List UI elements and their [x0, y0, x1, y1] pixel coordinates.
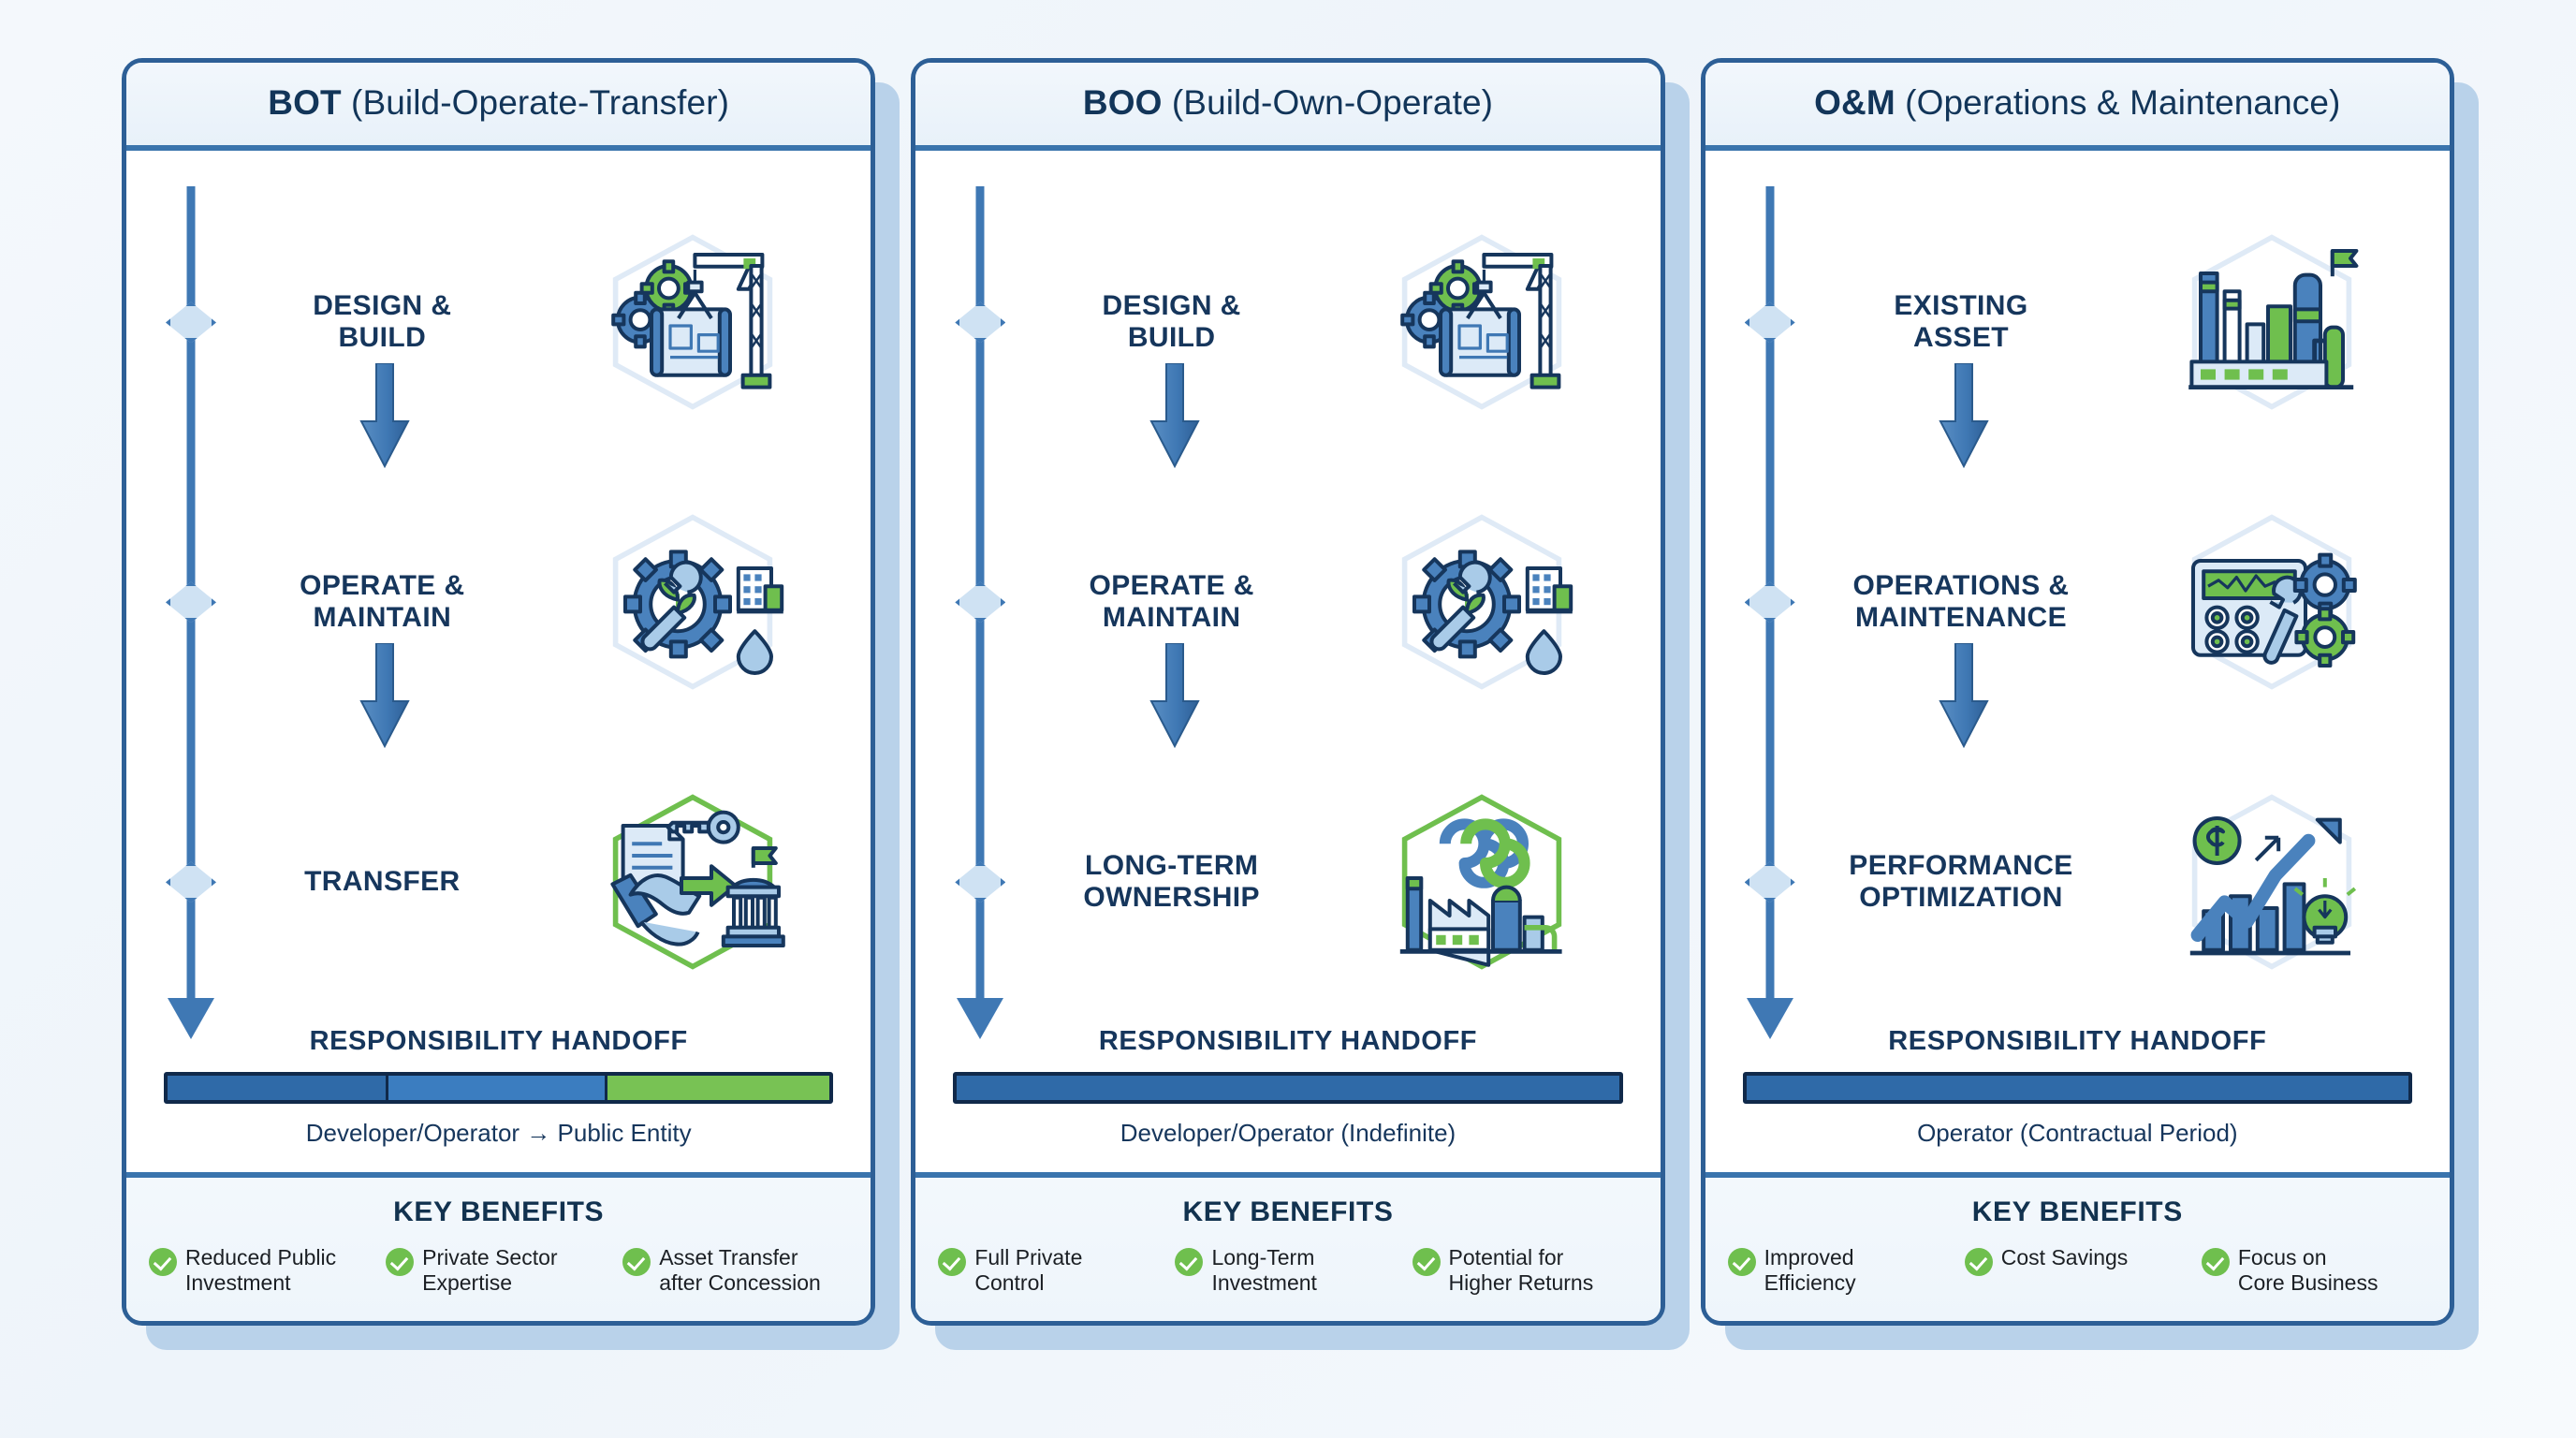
card-body-bot: DESIGN & BUILD [126, 151, 871, 1172]
stage-label: OPERATE & MAINTAIN [1089, 570, 1253, 636]
stage-label: OPERATIONS & MAINTENANCE [1853, 570, 2070, 636]
stage-label: EXISTING ASSET [1894, 290, 2027, 356]
check-circle-icon [1965, 1248, 1993, 1276]
flow-arrow-down-icon [356, 643, 414, 748]
stage-illustration-1 [1328, 183, 1636, 462]
stage-2-boo[interactable]: OPERATE & MAINTAIN [1020, 462, 1328, 742]
responsibility-handoff-om: RESPONSIBILITY HANDOFF Operator (Contrac… [1730, 1022, 2425, 1172]
check-circle-icon [1412, 1248, 1441, 1276]
timeline-node-3 [1730, 742, 1810, 1022]
control-panel-icon [2155, 508, 2389, 696]
flow-arrow-down-icon [356, 363, 414, 468]
timeline-node-2 [151, 462, 231, 742]
diamond-marker-icon [166, 581, 216, 623]
stage-illustration-1 [2117, 183, 2425, 462]
handoff-segment-operator-phase-2 [386, 1076, 604, 1100]
benefit-item: Improved Efficiency [1728, 1245, 1954, 1297]
handoff-bar [953, 1072, 1622, 1104]
flow-arrow-down-icon [1935, 643, 1993, 748]
handoff-title: RESPONSIBILITY HANDOFF [1739, 1026, 2416, 1057]
card-body-om: EXISTING ASSET [1705, 151, 2450, 1172]
diamond-marker-icon [166, 861, 216, 902]
stage-flow-bot: DESIGN & BUILD [151, 183, 846, 1022]
benefit-label: Full Private Control [974, 1245, 1082, 1297]
handoff-segment-public-entity-phase [605, 1076, 829, 1100]
benefit-item: Reduced Public Investment [149, 1245, 374, 1297]
check-circle-icon [1175, 1248, 1203, 1276]
check-circle-icon [622, 1248, 651, 1276]
timeline-node-3 [151, 742, 231, 1022]
design-build-icon [1365, 228, 1599, 416]
growth-chart-icon [2155, 788, 2389, 976]
handoff-caption: Operator (Contractual Period) [1739, 1119, 2416, 1148]
timeline-node-1 [151, 183, 231, 462]
card-title-om: O&M (Operations & Maintenance) [1719, 83, 2437, 123]
benefit-list: Reduced Public Investment Private Sector… [143, 1245, 854, 1297]
timeline-node-2 [1730, 462, 1810, 742]
handoff-title: RESPONSIBILITY HANDOFF [949, 1026, 1626, 1057]
card-title-boo: BOO (Build-Own-Operate) [929, 83, 1647, 123]
stage-3-om[interactable]: PERFORMANCE OPTIMIZATION [1810, 742, 2118, 1022]
benefit-label: Cost Savings [2001, 1245, 2129, 1271]
responsibility-handoff-boo: RESPONSIBILITY HANDOFF Developer/Operato… [940, 1022, 1635, 1172]
key-benefits-boo: KEY BENEFITS Full Private Control Long-T… [915, 1172, 1660, 1321]
benefit-label: Long-Term Investment [1211, 1245, 1317, 1297]
benefit-label: Focus on Core Business [2238, 1245, 2378, 1297]
benefits-title: KEY BENEFITS [143, 1196, 854, 1228]
handoff-segment-developer-indefinite [957, 1076, 1618, 1100]
infographic-board: BOT (Build-Operate-Transfer) DESIGN & BU… [0, 0, 2576, 1438]
model-abbreviation: BOT [268, 83, 341, 122]
diamond-marker-icon [166, 301, 216, 343]
flow-arrow-down-icon [1146, 643, 1204, 748]
benefits-title: KEY BENEFITS [932, 1196, 1643, 1228]
benefit-item: Full Private Control [938, 1245, 1164, 1297]
benefit-label: Private Sector Expertise [422, 1245, 557, 1297]
transfer-handoff-icon [576, 788, 810, 976]
model-abbreviation: O&M [1814, 83, 1895, 122]
stage-illustration-1 [539, 183, 847, 462]
key-benefits-bot: KEY BENEFITS Reduced Public Investment P… [126, 1172, 871, 1321]
stage-label: DESIGN & BUILD [313, 290, 451, 356]
stage-1-om[interactable]: EXISTING ASSET [1810, 183, 2118, 462]
card-header-boo: BOO (Build-Own-Operate) [915, 63, 1660, 151]
timeline-node-1 [1730, 183, 1810, 462]
benefit-item: Cost Savings [1965, 1245, 2190, 1297]
stage-label: DESIGN & BUILD [1103, 290, 1241, 356]
model-card-bot[interactable]: BOT (Build-Operate-Transfer) DESIGN & BU… [122, 58, 875, 1326]
diamond-marker-icon [1745, 581, 1795, 623]
stage-illustration-3 [2117, 742, 2425, 1022]
benefit-item: Potential for Higher Returns [1412, 1245, 1638, 1297]
stage-label: PERFORMANCE OPTIMIZATION [1849, 850, 2072, 916]
diamond-marker-icon [955, 301, 1005, 343]
check-circle-icon [149, 1248, 177, 1276]
timeline-node-3 [940, 742, 1020, 1022]
benefits-title: KEY BENEFITS [1722, 1196, 2433, 1228]
benefit-label: Reduced Public Investment [185, 1245, 336, 1297]
model-card-boo[interactable]: BOO (Build-Own-Operate) DESIGN & BUILD [911, 58, 1664, 1326]
check-circle-icon [2202, 1248, 2230, 1276]
stage-label: OPERATE & MAINTAIN [300, 570, 464, 636]
check-circle-icon [386, 1248, 414, 1276]
stage-3-bot[interactable]: TRANSFER [231, 742, 539, 1022]
model-card-om[interactable]: O&M (Operations & Maintenance) EXISTING … [1701, 58, 2454, 1326]
model-expansion: (Build-Operate-Transfer) [342, 83, 729, 122]
benefit-item: Private Sector Expertise [386, 1245, 611, 1297]
responsibility-handoff-bot: RESPONSIBILITY HANDOFF Developer/Operato… [151, 1022, 846, 1172]
timeline-node-2 [940, 462, 1020, 742]
check-circle-icon [1728, 1248, 1756, 1276]
handoff-bar [1743, 1072, 2412, 1104]
diamond-marker-icon [1745, 861, 1795, 902]
benefit-list: Improved Efficiency Cost Savings Focus o… [1722, 1245, 2433, 1297]
benefit-label: Potential for Higher Returns [1449, 1245, 1594, 1297]
stage-label: TRANSFER [304, 866, 461, 899]
handoff-segment-operator-contract [1747, 1076, 2408, 1100]
infinite-ownership-icon [1365, 788, 1599, 976]
stage-illustration-3 [539, 742, 847, 1022]
stage-illustration-2 [1328, 462, 1636, 742]
check-circle-icon [938, 1248, 966, 1276]
handoff-caption: Developer/Operator (Indefinite) [949, 1119, 1626, 1148]
benefit-item: Asset Transfer after Concession [622, 1245, 848, 1297]
benefit-list: Full Private Control Long-Term Investmen… [932, 1245, 1643, 1297]
timeline-node-1 [940, 183, 1020, 462]
operate-maintain-icon [576, 508, 810, 696]
stage-1-bot[interactable]: DESIGN & BUILD [231, 183, 539, 462]
handoff-bar [164, 1072, 833, 1104]
stage-2-bot[interactable]: OPERATE & MAINTAIN [231, 462, 539, 742]
key-benefits-om: KEY BENEFITS Improved Efficiency Cost Sa… [1705, 1172, 2450, 1321]
stage-flow-boo: DESIGN & BUILD [940, 183, 1635, 1022]
card-header-bot: BOT (Build-Operate-Transfer) [126, 63, 871, 151]
existing-plant-icon [2155, 228, 2389, 416]
diamond-marker-icon [955, 861, 1005, 902]
operate-maintain-icon [1365, 508, 1599, 696]
card-title-bot: BOT (Build-Operate-Transfer) [139, 83, 857, 123]
benefit-label: Improved Efficiency [1764, 1245, 1856, 1297]
stage-illustration-2 [539, 462, 847, 742]
stage-illustration-3 [1328, 742, 1636, 1022]
benefit-label: Asset Transfer after Concession [659, 1245, 821, 1297]
handoff-title: RESPONSIBILITY HANDOFF [160, 1026, 837, 1057]
benefit-item: Focus on Core Business [2202, 1245, 2427, 1297]
card-header-om: O&M (Operations & Maintenance) [1705, 63, 2450, 151]
diamond-marker-icon [955, 581, 1005, 623]
stage-label: LONG-TERM OWNERSHIP [1083, 850, 1260, 916]
flow-arrow-down-icon [1935, 363, 1993, 468]
benefit-item: Long-Term Investment [1175, 1245, 1400, 1297]
design-build-icon [576, 228, 810, 416]
model-expansion: (Operations & Maintenance) [1895, 83, 2341, 122]
model-abbreviation: BOO [1083, 83, 1163, 122]
model-expansion: (Build-Own-Operate) [1162, 83, 1493, 122]
handoff-caption: Developer/Operator → Public Entity [160, 1119, 837, 1148]
flow-arrow-down-icon [1146, 363, 1204, 468]
diamond-marker-icon [1745, 301, 1795, 343]
stage-2-om[interactable]: OPERATIONS & MAINTENANCE [1810, 462, 2118, 742]
stage-1-boo[interactable]: DESIGN & BUILD [1020, 183, 1328, 462]
card-body-boo: DESIGN & BUILD [915, 151, 1660, 1172]
stage-flow-om: EXISTING ASSET [1730, 183, 2425, 1022]
stage-illustration-2 [2117, 462, 2425, 742]
stage-3-boo[interactable]: LONG-TERM OWNERSHIP [1020, 742, 1328, 1022]
handoff-segment-developer-phase-1 [168, 1076, 386, 1100]
